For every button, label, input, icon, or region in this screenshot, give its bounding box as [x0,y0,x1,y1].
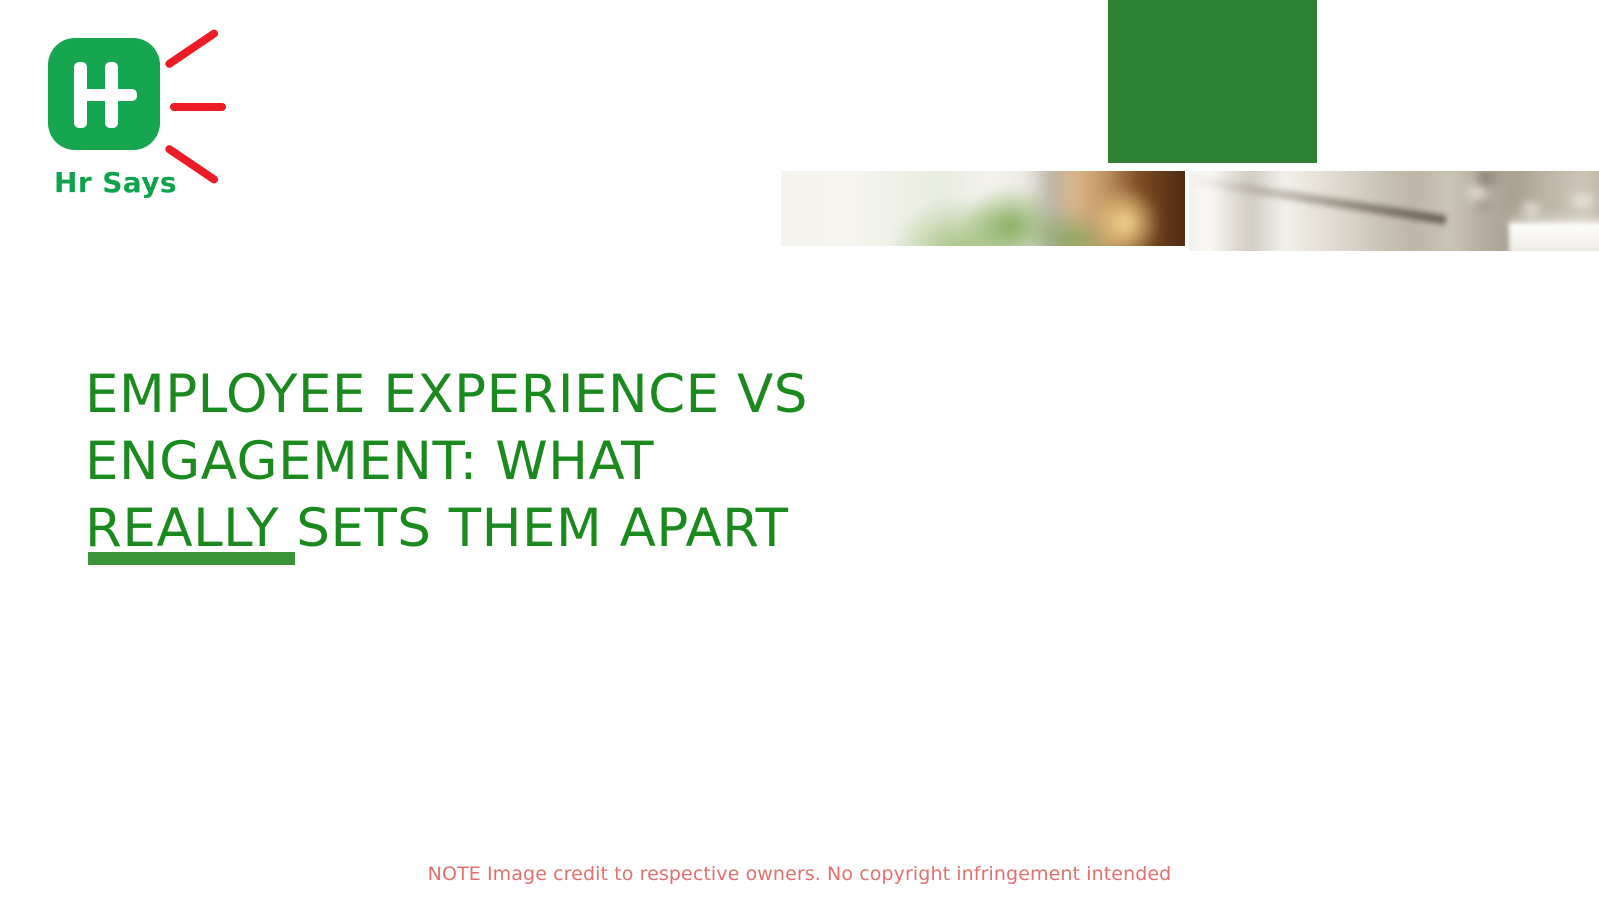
image-credit-note: NOTE Image credit to respective owners. … [0,863,1599,885]
title-accent-bar [88,552,295,565]
slide-canvas: Hr Says EMPLOYEE EXPERIENCE VS ENGAGEMEN… [0,0,1599,899]
logo-ray-middle-icon [170,103,226,111]
title-line-2: ENGAGEMENT: WHAT [85,428,885,495]
brand-logo[interactable]: Hr Says [48,38,278,213]
title-line-1: EMPLOYEE EXPERIENCE VS [85,361,885,428]
decorative-photo-left [781,171,1185,246]
logo-ray-top-icon [164,28,220,69]
logo-wordmark: Hr Says [54,166,177,199]
logo-letter-h-icon [48,38,160,150]
decorative-photo-right [1189,171,1599,251]
logo-mark [48,38,160,150]
green-accent-square [1108,0,1317,163]
slide-title: EMPLOYEE EXPERIENCE VS ENGAGEMENT: WHAT … [85,361,885,562]
